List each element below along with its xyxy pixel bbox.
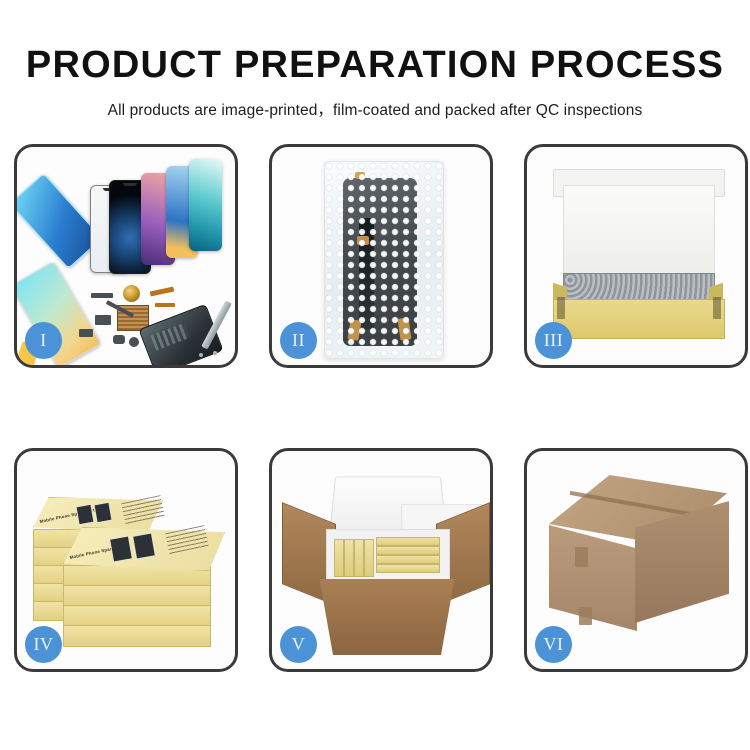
small-part [95, 315, 111, 325]
speaker-coil-part [123, 285, 140, 302]
phone-teal-display [189, 159, 222, 251]
stacked-box [63, 605, 211, 627]
process-step-grid: I II III [0, 136, 750, 736]
packed-yellow-box [376, 537, 440, 546]
process-step-2: II [269, 144, 493, 368]
box-window-image [93, 502, 112, 523]
carton-body [312, 579, 462, 655]
part-strip [91, 293, 113, 298]
packed-yellow-box [364, 539, 374, 577]
page-header: PRODUCT PREPARATION PROCESS All products… [0, 0, 750, 120]
process-step-5: V [269, 448, 493, 672]
screw-part [213, 351, 217, 355]
bubble-texture [325, 162, 443, 358]
flex-cable [155, 303, 175, 307]
step-badge-2: II [280, 322, 317, 359]
process-step-4: Mobile Phone Spare Parts Mobile Phone Sp… [14, 448, 238, 672]
carton-tape-patch [575, 547, 588, 567]
foam-sheet [563, 185, 715, 279]
process-step-3: III [524, 144, 748, 368]
packed-boxes-group [334, 537, 440, 577]
step-badge-5: V [280, 626, 317, 663]
small-part [129, 337, 139, 347]
box-window-image [109, 535, 133, 562]
step-badge-4: IV [25, 626, 62, 663]
small-part [113, 335, 125, 344]
carton-tape-patch [579, 607, 592, 625]
page-title: PRODUCT PREPARATION PROCESS [0, 0, 750, 84]
step-badge-1: I [25, 322, 62, 359]
box-corner-tab [713, 297, 721, 319]
notch-icon [123, 183, 137, 186]
box-stack: Mobile Phone Spare Parts Mobile Phone Sp… [31, 473, 227, 653]
stacked-box [63, 585, 211, 607]
stacked-box [63, 625, 211, 647]
process-step-1: I [14, 144, 238, 368]
small-part [79, 329, 93, 337]
screw-part [205, 343, 209, 347]
step-badge-6: VI [535, 626, 572, 663]
bubble-wrap-bag [324, 161, 444, 359]
process-step-6: VI [524, 448, 748, 672]
box-front-wall [553, 299, 725, 339]
packed-yellow-box [376, 564, 440, 573]
screw-part [199, 353, 203, 357]
flex-cable [150, 287, 175, 297]
box-corner-tab [557, 297, 565, 319]
carton-left-face [549, 525, 637, 631]
box-window-image [132, 532, 156, 559]
packed-yellow-box [376, 546, 440, 555]
packed-yellow-box [334, 539, 344, 577]
packed-yellow-box [344, 539, 354, 577]
step-badge-3: III [535, 322, 572, 359]
box-window-image [75, 504, 94, 525]
page-subtitle: All products are image-printed，film-coat… [0, 84, 750, 120]
packed-yellow-box [354, 539, 364, 577]
packed-yellow-box [376, 555, 440, 564]
